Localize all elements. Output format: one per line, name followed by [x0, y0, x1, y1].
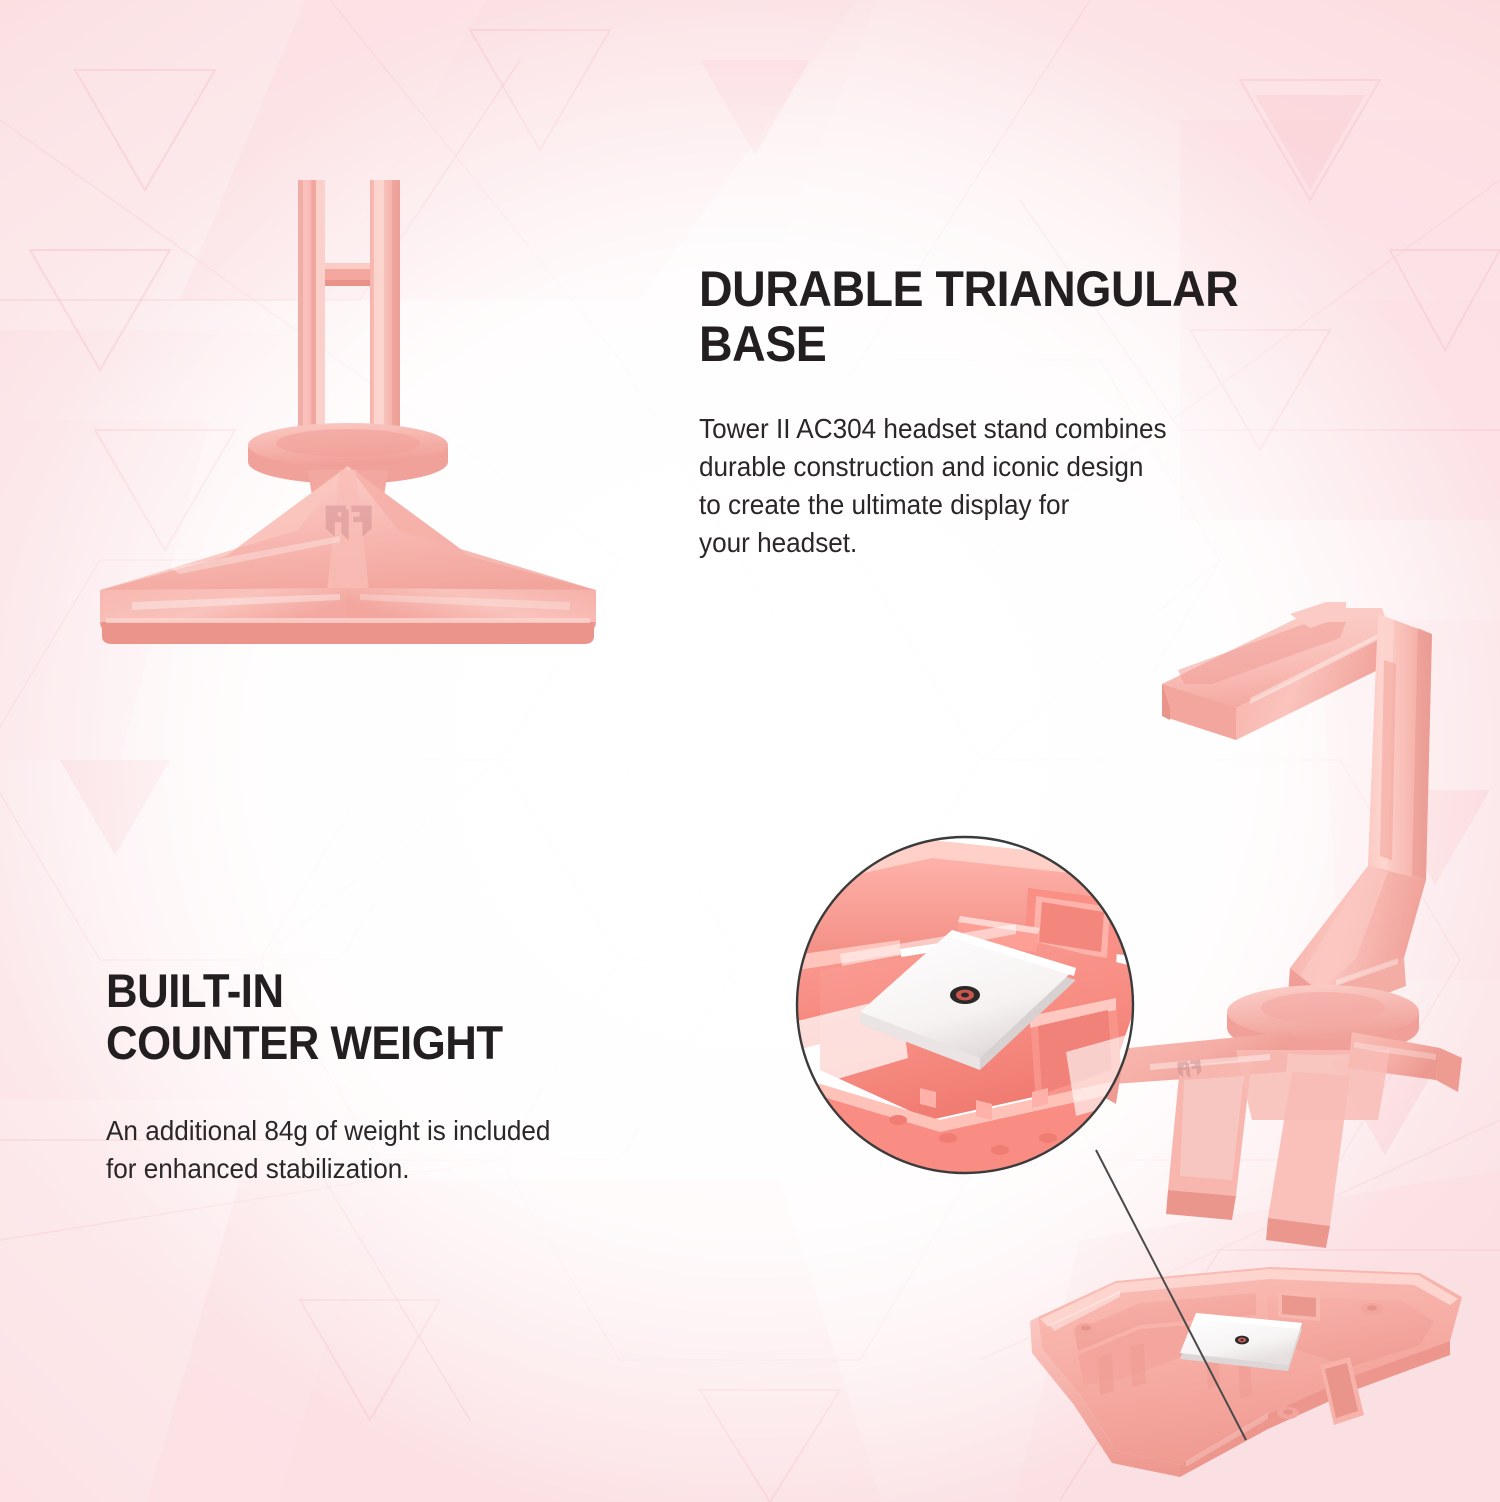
feature-block-durable-base: DURABLE TRIANGULAR BASE Tower II AC304 h…	[699, 262, 1459, 562]
durable-heading: DURABLE TRIANGULAR BASE	[699, 262, 1406, 372]
durable-body-line2: durable construction and iconic design	[699, 448, 1421, 486]
durable-heading-line2: BASE	[699, 317, 1406, 372]
hanger-rest-arm	[1162, 602, 1390, 740]
durable-body-line4: your headset.	[699, 524, 1421, 562]
product-feature-panel: DURABLE TRIANGULAR BASE Tower II AC304 h…	[0, 0, 1500, 1502]
base-post-left	[298, 180, 325, 448]
counter-heading: BUILT-IN COUNTER WEIGHT	[106, 965, 757, 1068]
base-tripod-body	[100, 466, 596, 644]
hanger-column	[1368, 614, 1432, 880]
durable-body-line3: to create the ultimate display for	[699, 486, 1421, 524]
counter-body: An additional 84g of weight is included …	[106, 1112, 771, 1188]
durable-body-line1: Tower II AC304 headset stand combines	[699, 410, 1421, 448]
durable-heading-line1: DURABLE TRIANGULAR	[699, 262, 1406, 317]
base-cross-brace	[325, 263, 370, 286]
counter-heading-line1: BUILT-IN	[106, 965, 757, 1017]
feature-block-counter-weight: BUILT-IN COUNTER WEIGHT An additional 84…	[106, 965, 806, 1188]
product-image-triangular-base	[40, 170, 660, 640]
product-image-base-underside	[1020, 1245, 1480, 1495]
base-post-right	[370, 180, 400, 452]
durable-body: Tower II AC304 headset stand combines du…	[699, 410, 1421, 562]
counter-body-line2: for enhanced stabilization.	[106, 1150, 771, 1188]
counter-heading-line2: COUNTER WEIGHT	[106, 1017, 757, 1069]
magnifier-callout	[780, 820, 1180, 1220]
counter-body-line1: An additional 84g of weight is included	[106, 1112, 771, 1150]
product-image-headset-hanger	[1140, 580, 1500, 1300]
